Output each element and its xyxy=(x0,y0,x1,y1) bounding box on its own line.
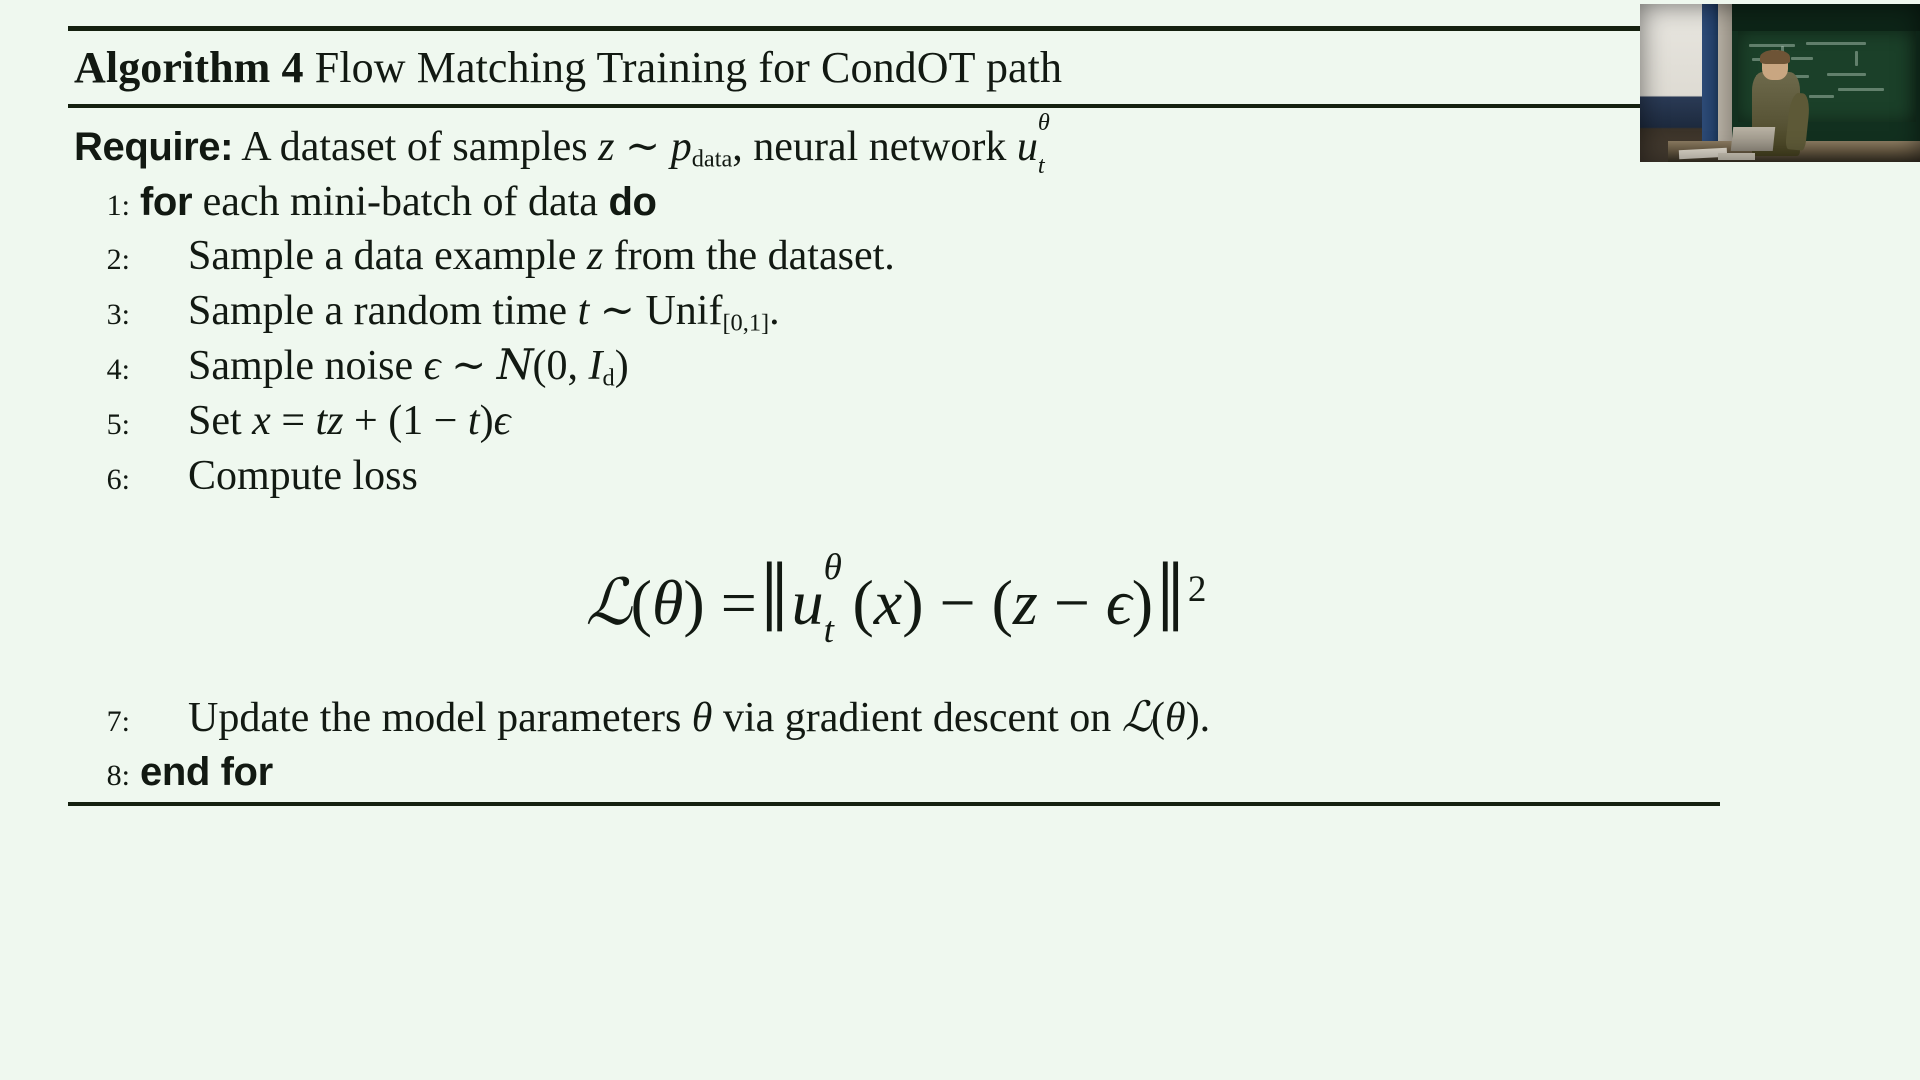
math-calligraphic: ℒ xyxy=(1122,692,1151,741)
require-line: Require: A dataset of samples z ∼ pdata,… xyxy=(72,120,1720,175)
step-content: Compute loss xyxy=(140,449,418,504)
loss-u-subscript: t xyxy=(824,609,834,654)
algorithm-block: Algorithm 4 Flow Matching Training for C… xyxy=(68,26,1720,806)
require-var-z: z xyxy=(598,124,614,170)
loss-u-symbol: uθt xyxy=(792,565,824,642)
algorithm-step: 3:Sample a random time t ∼ Unif[0,1]. xyxy=(72,284,1720,339)
step-number: 2: xyxy=(72,240,140,279)
math-variable: t xyxy=(578,288,590,334)
math-variable: ϵ xyxy=(424,343,441,389)
step-text-run: Sample a data example xyxy=(188,233,587,279)
loss-theta: θ xyxy=(652,567,683,638)
chalk-mark xyxy=(1827,73,1866,76)
algorithm-step: 5:Set x = tz + (1 − t)ϵ xyxy=(72,394,1720,449)
math-variable: I xyxy=(589,343,603,389)
algorithm-steps-before-equation: 1:for each mini-batch of data do2:Sample… xyxy=(72,175,1720,504)
norm-open-bars: ∥ xyxy=(760,555,788,646)
step-number: 3: xyxy=(72,295,140,334)
math-variable: t xyxy=(468,398,480,444)
require-u-base: u xyxy=(1017,124,1038,170)
require-u-superscript: θ xyxy=(1038,107,1050,139)
require-u-symbol: uθt xyxy=(1017,120,1038,175)
step-content: Sample a data example z from the dataset… xyxy=(140,229,895,284)
step-keyword: end for xyxy=(140,750,273,794)
step-content: Update the model parameters θ via gradie… xyxy=(140,690,1210,746)
require-comma: , xyxy=(732,124,743,170)
math-variable: θ xyxy=(692,695,713,741)
math-variable: x xyxy=(252,398,271,444)
step-text-run: Update the model parameters xyxy=(188,695,692,741)
wall-left xyxy=(1640,4,1707,162)
step-text-run: Compute loss xyxy=(188,453,418,499)
slide-canvas: Algorithm 4 Flow Matching Training for C… xyxy=(0,0,1920,1080)
step-text-run: ) xyxy=(480,398,494,444)
step-number: 5: xyxy=(72,405,140,444)
paper-sheet xyxy=(1718,153,1754,160)
step-content: for each mini-batch of data do xyxy=(140,175,657,230)
algorithm-body: Require: A dataset of samples z ∼ pdata,… xyxy=(68,108,1720,802)
require-u-subscript: t xyxy=(1038,150,1045,182)
step-text-run: = xyxy=(271,398,316,444)
require-text-after: neural network xyxy=(753,124,1006,170)
step-text-run: ) xyxy=(615,343,629,389)
math-variable: ϵ xyxy=(494,398,511,444)
loss-arg: x xyxy=(874,567,902,638)
chalk-mark xyxy=(1749,44,1795,47)
step-number: 7: xyxy=(72,702,140,741)
loss-equation: ℒ(θ) =∥uθt(x) − (z − ϵ)∥2 xyxy=(72,503,1720,690)
math-subscript: d xyxy=(603,365,615,392)
chalkboard-upper-panel xyxy=(1732,4,1920,31)
algorithm-bottom-rule xyxy=(68,802,1720,806)
algorithm-step: 8:end for xyxy=(72,745,1720,800)
step-text-run: Sample a random time xyxy=(188,288,578,334)
math-variable: z xyxy=(587,233,603,279)
require-p-base: p xyxy=(671,124,692,170)
step-keyword: for xyxy=(140,180,192,224)
require-text-before: A dataset of samples xyxy=(241,124,587,170)
loss-z: z xyxy=(1013,567,1038,638)
step-text-run: ∼ xyxy=(441,343,497,389)
algorithm-step: 4:Sample noise ϵ ∼ N(0, Id) xyxy=(72,338,1720,394)
require-p-subscript: data xyxy=(692,145,733,172)
step-text-run: + (1 − xyxy=(344,398,468,444)
loss-inner-minus: − xyxy=(1054,567,1090,638)
step-content: Sample a random time t ∼ Unif[0,1]. xyxy=(140,284,780,339)
step-number: 4: xyxy=(72,350,140,389)
step-content: end for xyxy=(140,745,273,800)
step-text-run: from the dataset. xyxy=(603,233,895,279)
step-text-run: ( xyxy=(1151,695,1165,741)
laptop xyxy=(1731,127,1775,151)
algorithm-title-text: Flow Matching Training for CondOT path xyxy=(315,43,1062,92)
algorithm-step: 1:for each mini-batch of data do xyxy=(72,175,1720,230)
webcam-overlay[interactable] xyxy=(1640,4,1920,162)
step-text-run: . xyxy=(769,288,780,334)
step-text-run: Sample noise xyxy=(188,343,424,389)
loss-epsilon: ϵ xyxy=(1106,567,1132,638)
algorithm-title: Algorithm 4 Flow Matching Training for C… xyxy=(68,31,1720,103)
algorithm-step: 2:Sample a data example z from the datas… xyxy=(72,229,1720,284)
norm-close-bars: ∥ xyxy=(1156,555,1184,646)
loss-symbol: ℒ xyxy=(586,566,631,640)
chalk-mark xyxy=(1809,95,1834,98)
step-text-run: via gradient descent on xyxy=(712,695,1121,741)
chalk-mark xyxy=(1791,57,1812,60)
step-content: Set x = tz + (1 − t)ϵ xyxy=(140,394,510,449)
algorithm-label: Algorithm xyxy=(74,43,270,92)
step-text-run: Set xyxy=(188,398,252,444)
math-calligraphic: N xyxy=(497,340,533,389)
chalk-mark xyxy=(1806,42,1866,45)
algorithm-number: 4 xyxy=(282,43,304,92)
chalk-mark xyxy=(1855,51,1858,66)
step-text-run: each mini-batch of data xyxy=(192,179,608,225)
step-text-run: ). xyxy=(1186,695,1211,741)
math-variable: θ xyxy=(1165,695,1186,741)
require-sim: ∼ xyxy=(625,124,660,170)
math-subscript: [0,1] xyxy=(722,309,769,336)
step-keyword: do xyxy=(608,180,656,224)
projection-screen xyxy=(1702,4,1720,143)
step-number: 6: xyxy=(72,460,140,499)
algorithm-steps-after-equation: 7:Update the model parameters θ via grad… xyxy=(72,690,1720,800)
step-text-run: (0, xyxy=(533,343,589,389)
loss-equals: = xyxy=(721,567,757,638)
step-number: 8: xyxy=(72,756,140,795)
loss-u-superscript: θ xyxy=(824,546,842,591)
require-keyword: Require: xyxy=(74,125,233,169)
loss-minus: − xyxy=(940,567,976,638)
step-text-run: ∼ Unif xyxy=(589,288,722,334)
loss-u-base: u xyxy=(792,567,824,638)
loss-exponent: 2 xyxy=(1188,569,1207,610)
speaker-hair xyxy=(1760,50,1789,64)
lecture-hall-scene xyxy=(1640,4,1920,162)
step-number: 1: xyxy=(72,186,140,225)
algorithm-step: 6:Compute loss xyxy=(72,449,1720,504)
math-variable: tz xyxy=(316,398,344,444)
chalk-mark xyxy=(1838,88,1884,91)
algorithm-step: 7:Update the model parameters θ via grad… xyxy=(72,690,1720,746)
step-content: Sample noise ϵ ∼ N(0, Id) xyxy=(140,338,629,394)
